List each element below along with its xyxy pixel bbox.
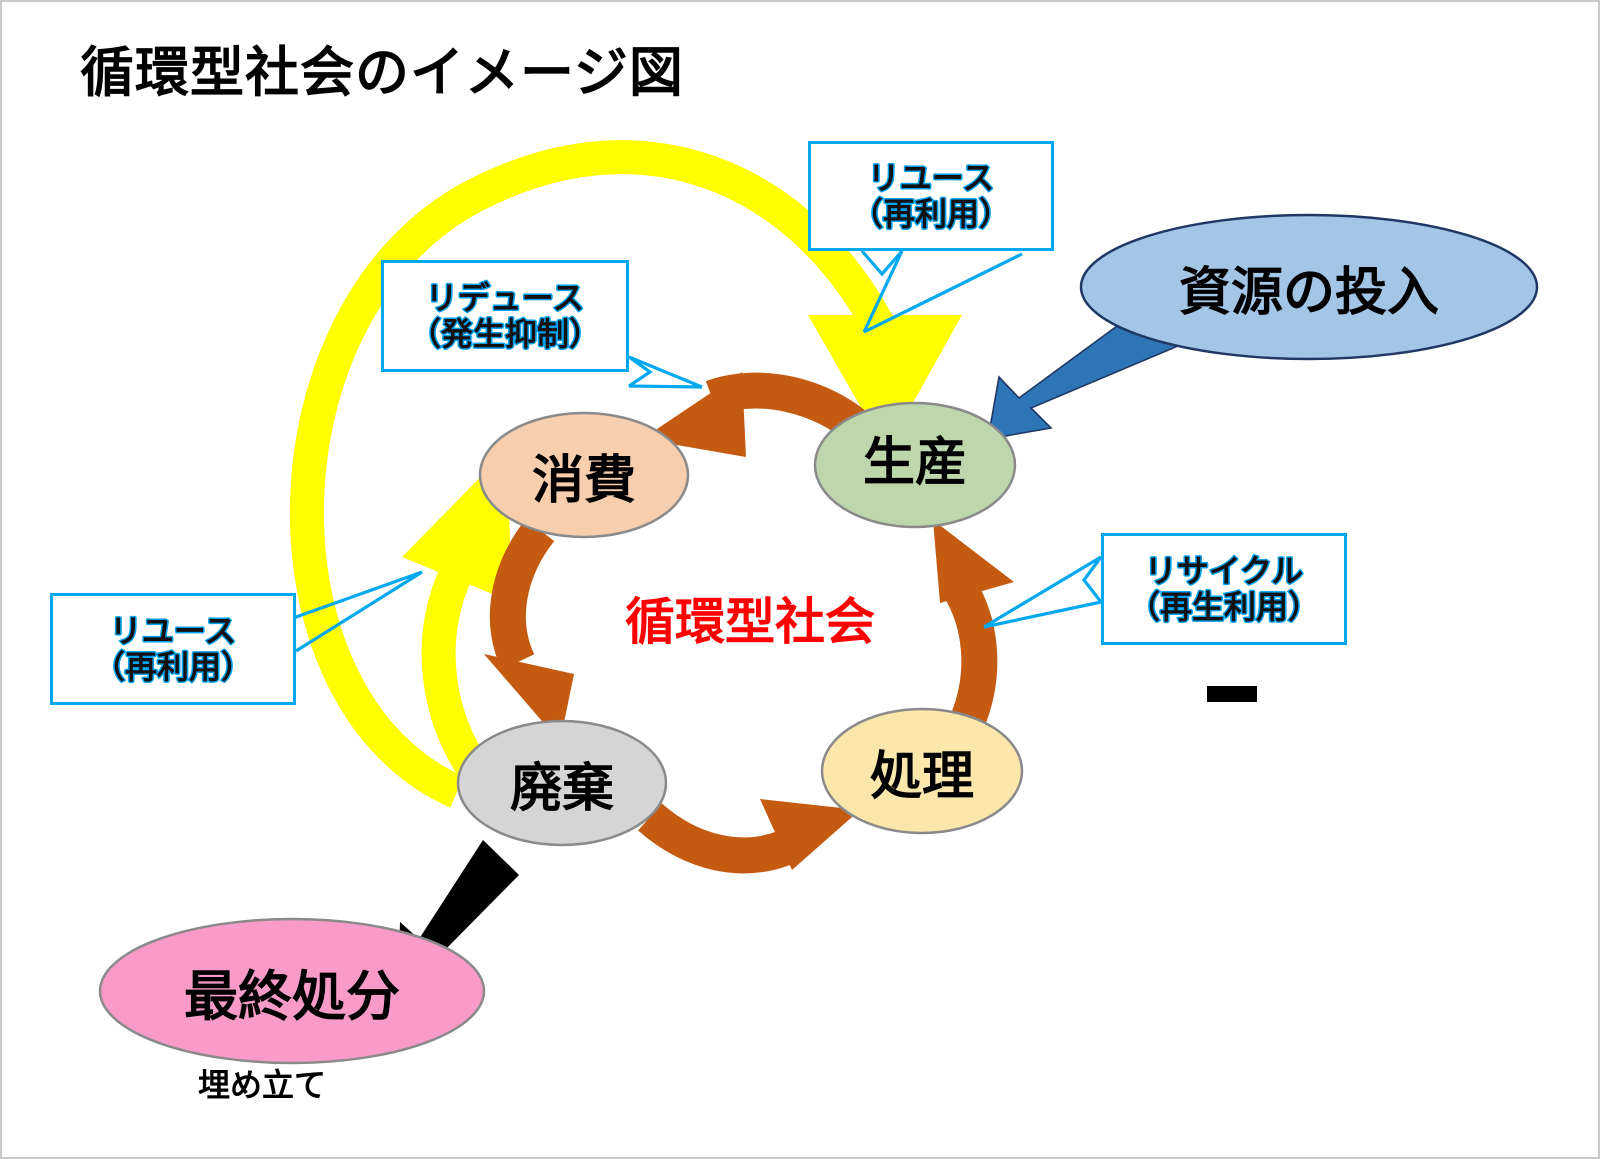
node-label-production[interactable]: 生産	[820, 402, 1010, 512]
callout-reuse-top[interactable]: リユース （再利用）	[808, 141, 1054, 251]
leader-line-reduce	[629, 357, 702, 387]
node-label-consumption[interactable]: 消費	[484, 420, 684, 530]
callout-reuse-left[interactable]: リユース （再利用）	[50, 593, 296, 705]
page-title: 循環型社会のイメージ図	[80, 28, 684, 107]
center-label-recycling-society: 循環型社会	[590, 582, 910, 654]
callout-recycle[interactable]: リサイクル （再生利用）	[1101, 533, 1347, 645]
callout-recycle-line1: リサイクル	[1145, 553, 1303, 589]
callout-reduce-line2: （発生抑制）	[409, 316, 601, 352]
node-label-resource-input[interactable]: 資源の投入	[1084, 232, 1534, 342]
callout-reuse-left-line1: リユース	[110, 613, 236, 649]
arrow-cycle-treatment-to-production	[933, 520, 1014, 722]
node-label-final-disposal[interactable]: 最終処分	[102, 936, 482, 1046]
callout-reduce-line1: リデュース	[426, 280, 584, 316]
black-dash-mark	[1207, 686, 1257, 702]
callout-reduce[interactable]: リデュース （発生抑制）	[381, 260, 629, 372]
callout-reuse-top-line2: （再利用）	[851, 196, 1011, 232]
node-label-disposal[interactable]: 廃棄	[462, 728, 662, 838]
leader-line-recycle	[984, 557, 1101, 627]
callout-reuse-left-line2: （再利用）	[93, 649, 253, 685]
node-label-treatment[interactable]: 処理	[822, 716, 1022, 826]
callout-reuse-top-line1: リユース	[868, 160, 994, 196]
caption-landfill: 埋め立て	[198, 1060, 326, 1106]
diagram-canvas: 循環型社会のイメージ図 消費 生産 廃棄 処理 最終処分 資源の投入 循環型社会…	[0, 0, 1600, 1159]
callout-recycle-line2: （再生利用）	[1128, 589, 1320, 625]
